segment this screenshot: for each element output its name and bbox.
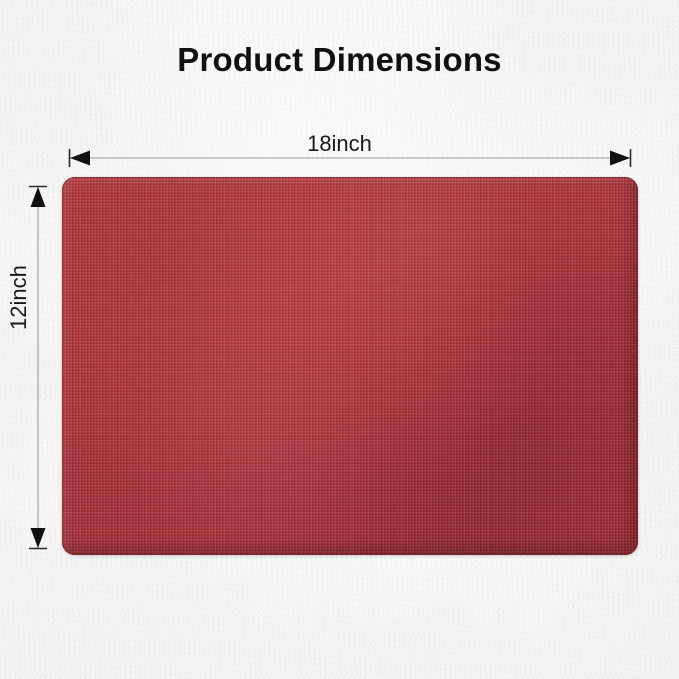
height-dimension-label: 12inch (6, 304, 32, 330)
width-dimension-label: 18inch (0, 131, 679, 157)
placemat-rim (62, 177, 638, 555)
page-title: Product Dimensions (0, 41, 679, 79)
product-dimensions-diagram: Product Dimensions 18inch 12inch (0, 0, 679, 679)
product-image-placemat (62, 177, 638, 555)
